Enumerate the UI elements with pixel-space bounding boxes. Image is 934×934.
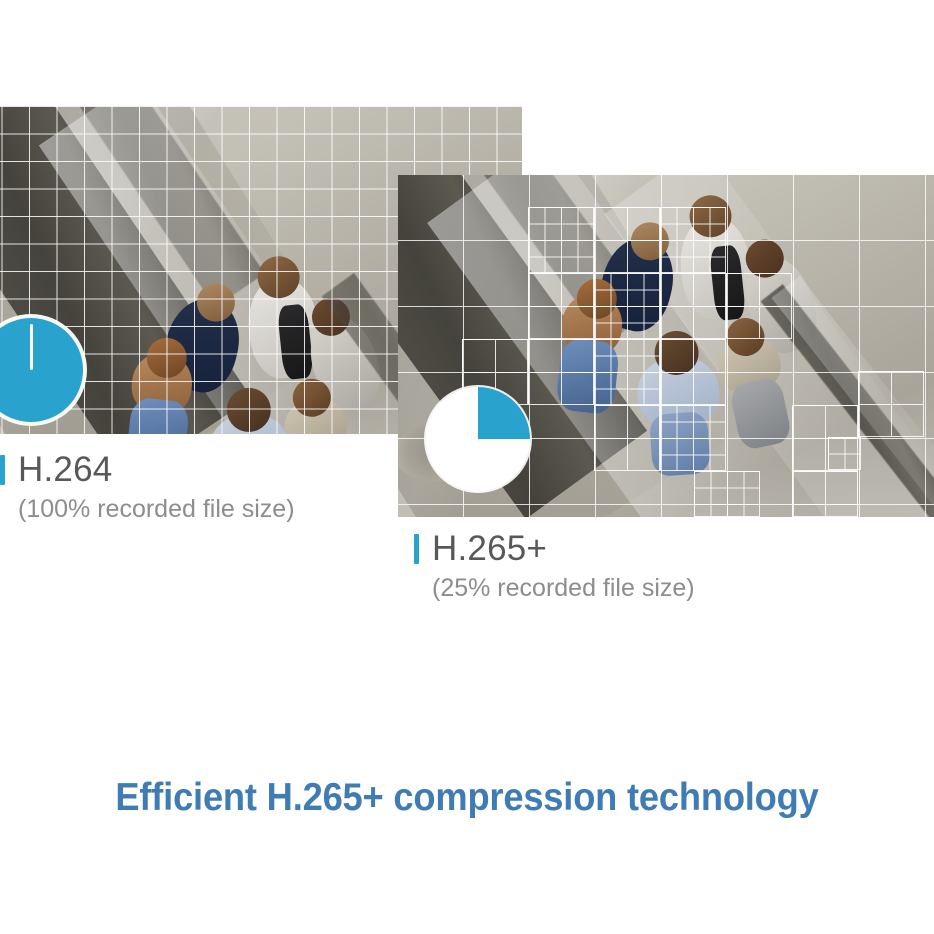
h265plus-filesize-pie — [426, 387, 530, 491]
ctu-subdivision-block — [858, 371, 924, 437]
ctu-subdivision-block — [594, 339, 660, 405]
h264-legend: H.264 (100% recorded file size) — [0, 452, 295, 524]
ctu-subdivision-block — [726, 273, 792, 339]
ctu-subdivision-block — [660, 339, 726, 405]
ctu-subdivision-block — [594, 273, 660, 339]
ctu-subdivision-block — [660, 207, 726, 273]
ctu-subdivision-block — [660, 405, 726, 471]
ctu-subdivision-block — [528, 273, 594, 339]
page-title: Efficient H.265+ compression technology — [33, 776, 902, 820]
ctu-subdivision-block — [660, 273, 726, 339]
slide-canvas: H.264 (100% recorded file size) H.265+ (… — [0, 0, 934, 934]
ctu-subdivision-block — [694, 471, 760, 517]
h265plus-filesize-note: (25% recorded file size) — [432, 575, 695, 603]
h265plus-codec-label: H.265+ — [432, 531, 547, 566]
accent-bar-icon — [414, 534, 419, 564]
ctu-subdivision-block — [528, 339, 594, 405]
h264-filesize-note: (100% recorded file size) — [18, 496, 295, 524]
ctu-subdivision-block — [528, 207, 594, 273]
h265plus-video-panel — [398, 175, 934, 517]
ctu-subdivision-block — [594, 207, 660, 273]
h265plus-legend-title: H.265+ — [414, 531, 695, 566]
h265plus-legend: H.265+ (25% recorded file size) — [414, 531, 695, 603]
accent-bar-icon — [0, 455, 5, 485]
ctu-subdivision-block — [594, 405, 660, 471]
ctu-subdivision-block — [828, 437, 861, 470]
h264-legend-title: H.264 — [0, 452, 295, 487]
ctu-subdivision-block — [792, 471, 858, 517]
h264-codec-label: H.264 — [18, 452, 112, 487]
